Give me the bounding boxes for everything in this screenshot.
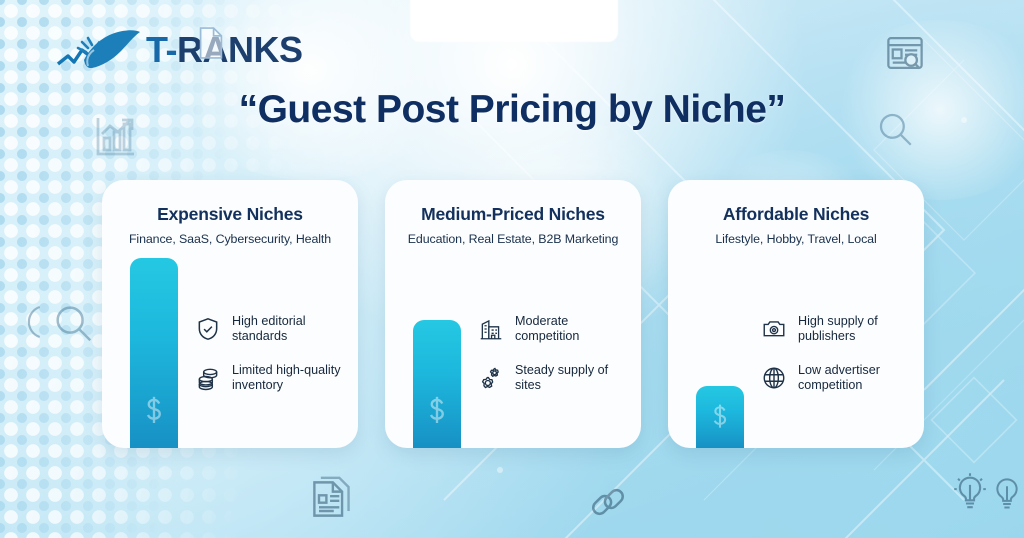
brand-logo[interactable]: T-RANKS (56, 26, 303, 74)
globe-icon (761, 365, 787, 391)
card-title: Expensive Niches (114, 204, 346, 225)
infographic-canvas: T-RANKS “Guest Post Pricing by Niche” Ex… (0, 0, 1024, 538)
card-expensive-niches[interactable]: Expensive Niches Finance, SaaS, Cybersec… (102, 180, 358, 448)
feature-item: High editorial standards (195, 314, 344, 345)
feature-text: Steady supply of sites (515, 363, 627, 394)
card-header: Affordable Niches Lifestyle, Hobby, Trav… (668, 180, 924, 246)
feature-text: High supply of publishers (798, 314, 910, 345)
feature-item: High supply of publishers (761, 314, 910, 345)
card-subtitle: Lifestyle, Hobby, Travel, Local (680, 232, 912, 246)
feature-text: Limited high-quality inventory (232, 363, 344, 394)
brand-logo-text: T-RANKS (146, 32, 303, 68)
page-title: “Guest Post Pricing by Niche” (0, 88, 1024, 132)
dollar-sign-icon (141, 395, 167, 434)
card-subtitle: Finance, SaaS, Cybersecurity, Health (114, 232, 346, 246)
shield-check-icon (195, 316, 221, 342)
cards-row: Expensive Niches Finance, SaaS, Cybersec… (102, 180, 924, 448)
card-feature-list: High editorial standards Limited high-qu… (195, 314, 344, 393)
card-feature-list: High supply of publishers Low advertiser… (761, 314, 910, 393)
webpage-search-icon (884, 32, 926, 79)
card-subtitle: Education, Real Estate, B2B Marketing (397, 232, 629, 246)
lightbulb-icon (952, 472, 988, 519)
feature-item: Limited high-quality inventory (195, 363, 344, 394)
feature-item: Low advertiser competition (761, 363, 910, 394)
documents-icon (310, 475, 352, 528)
dollar-sign-icon (708, 403, 732, 438)
dollar-sign-icon (424, 395, 450, 434)
crescent-icon (20, 302, 46, 347)
brand-logo-text-suffix: RANKS (177, 29, 303, 70)
lightbulb-icon (990, 474, 1024, 519)
feature-text: Low advertiser competition (798, 363, 910, 394)
price-bar-high (130, 258, 178, 448)
card-title: Affordable Niches (680, 204, 912, 225)
price-bar-low (696, 386, 744, 448)
coins-stack-icon (195, 365, 221, 391)
feature-item: Moderate competition (478, 314, 627, 345)
card-header: Expensive Niches Finance, SaaS, Cybersec… (102, 180, 358, 246)
rocket-trendline-icon (56, 26, 142, 74)
office-building-icon (478, 316, 504, 342)
card-medium-priced-niches[interactable]: Medium-Priced Niches Education, Real Est… (385, 180, 641, 448)
feature-text: Moderate competition (515, 314, 627, 345)
card-header: Medium-Priced Niches Education, Real Est… (385, 180, 641, 246)
chain-link-icon (588, 482, 628, 527)
price-bar-medium (413, 320, 461, 448)
feature-item: Steady supply of sites (478, 363, 627, 394)
card-feature-list: Moderate competition Steady supply of si… (478, 314, 627, 393)
feature-text: High editorial standards (232, 314, 344, 345)
top-white-plate (410, 0, 618, 42)
document-icon (198, 26, 224, 60)
brand-logo-text-prefix: T- (146, 29, 177, 70)
gears-icon (478, 365, 504, 391)
magnifier-icon (50, 300, 96, 351)
camera-icon (761, 316, 787, 342)
card-affordable-niches[interactable]: Affordable Niches Lifestyle, Hobby, Trav… (668, 180, 924, 448)
card-title: Medium-Priced Niches (397, 204, 629, 225)
